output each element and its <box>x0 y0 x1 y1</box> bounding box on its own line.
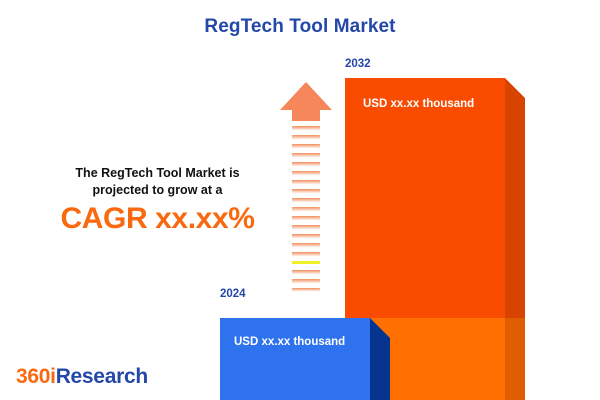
bar-2024: USD xx.xx thousand <box>220 318 390 400</box>
bar-2032-front-face-upper <box>345 78 505 318</box>
upward-growth-arrow-icon <box>279 80 333 295</box>
bar-2032-value-label: USD xx.xx thousand <box>363 98 474 110</box>
cagr-lead-line-2: projected to grow at a <box>93 183 223 197</box>
page-title: RegTech Tool Market <box>0 16 600 38</box>
bar-label-2032-year: 2032 <box>345 58 371 70</box>
brand-logo[interactable]: 360iResearch <box>16 365 148 389</box>
cagr-lead-text: The RegTech Tool Market is projected to … <box>40 165 275 199</box>
brand-logo-name: Research <box>56 365 148 388</box>
bar-2024-value-label: USD xx.xx thousand <box>234 336 345 348</box>
brand-logo-mark: 360i <box>16 365 56 388</box>
infographic-canvas: RegTech Tool Market 2032 USD xx.xx thous… <box>0 0 600 400</box>
cagr-callout: The RegTech Tool Market is projected to … <box>40 165 275 234</box>
cagr-lead-line-1: The RegTech Tool Market is <box>75 166 239 180</box>
bar-label-2024-year: 2024 <box>220 288 246 300</box>
cagr-value: CAGR xx.xx% <box>40 203 275 235</box>
bar-2024-front-face <box>220 318 370 400</box>
